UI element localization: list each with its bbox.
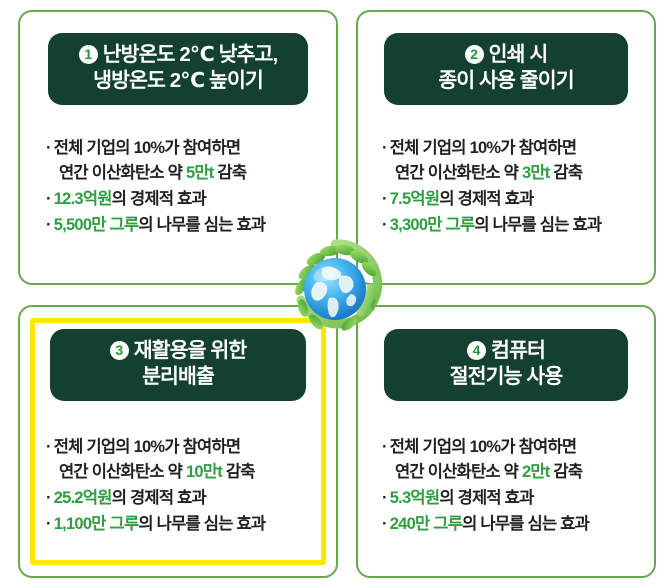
info-card-3: 3재활용을 위한 분리배출 ·전체 기업의 10%가 참여하면 연간 이산화탄소… [18,305,338,578]
card-4-number-badge: 4 [467,341,486,360]
card-2-bullet-1: ·전체 기업의 10%가 참여하면 연간 이산화탄소 약 3만t 감축 [382,136,638,186]
card-4-bullet-1-post: 감축 [550,463,583,481]
bullet-marker-icon: · [46,216,51,234]
card-4-bullet-1-line-2: 연간 이산화탄소 약 2만t 감축 [382,460,638,485]
card-4-bullets: ·전체 기업의 10%가 참여하면 연간 이산화탄소 약 2만t 감축 ·5.3… [382,435,638,538]
info-card-4: 4컴퓨터 절전기능 사용 ·전체 기업의 10%가 참여하면 연간 이산화탄소 … [356,305,656,578]
card-3-bullet-1-line-1: 전체 기업의 10%가 참여하면 [54,438,241,456]
card-3-title-line-1: 재활용을 위한 [134,339,247,362]
card-2-bullet-1-value: 3만t [522,164,550,182]
bullet-marker-icon: · [46,515,51,533]
card-2-title-line-1: 인쇄 시 [489,43,548,66]
bullet-marker-icon: · [46,139,51,157]
card-3-bullet-1-line-2: 연간 이산화탄소 약 10만t 감축 [46,460,320,485]
info-card-2: 2인쇄 시 종이 사용 줄이기 ·전체 기업의 10%가 참여하면 연간 이산화… [356,10,656,285]
card-1-bullet-3: ·5,500만 그루의 나무를 심는 효과 [46,213,320,238]
card-3-title-line-2: 분리배출 [56,364,300,390]
card-2-bullet-3-value: 3,300만 그루 [390,216,475,234]
card-1-bullet-1-value: 5만t [186,164,214,182]
card-3-bullet-2-value: 25.2억원 [54,489,112,507]
card-1-bullet-3-value: 5,500만 그루 [54,216,139,234]
card-2-header: 2인쇄 시 종이 사용 줄이기 [384,33,628,105]
card-4-bullet-1-value: 2만t [522,463,550,481]
card-1-bullet-1-post: 감축 [214,164,247,182]
card-3-bullet-1-post: 감축 [222,463,255,481]
card-4-bullet-3-post: 의 나무를 심는 효과 [462,515,589,533]
card-1-bullet-2-post: 의 경제적 효과 [112,190,206,208]
card-4-bullet-2: ·5.3억원의 경제적 효과 [382,486,638,511]
card-2-title-line-2: 종이 사용 줄이기 [390,68,622,94]
card-4-title-line-1: 컴퓨터 [491,339,545,362]
infographic-board: 1난방온도 2℃ 낮추고, 냉방온도 2℃ 높이기 ·전체 기업의 10%가 참… [0,0,669,586]
bullet-marker-icon: · [46,438,51,456]
card-4-bullet-1: ·전체 기업의 10%가 참여하면 연간 이산화탄소 약 2만t 감축 [382,435,638,485]
card-1-bullet-1-line-1: 전체 기업의 10%가 참여하면 [54,139,241,157]
info-card-1: 1난방온도 2℃ 낮추고, 냉방온도 2℃ 높이기 ·전체 기업의 10%가 참… [18,10,338,285]
card-3-bullet-1-pre: 연간 이산화탄소 약 [59,463,186,481]
card-1-bullet-2-value: 12.3억원 [54,190,112,208]
bullet-marker-icon: · [382,438,387,456]
card-2-bullet-2-value: 7.5억원 [390,190,440,208]
card-2-bullet-2-post: 의 경제적 효과 [439,190,533,208]
card-3-bullet-3-post: 의 나무를 심는 효과 [138,515,265,533]
card-3-bullet-3-value: 1,100만 그루 [54,515,139,533]
card-4-bullet-1-line-1: 전체 기업의 10%가 참여하면 [390,438,577,456]
card-1-bullet-2: ·12.3억원의 경제적 효과 [46,187,320,212]
card-3-bullets: ·전체 기업의 10%가 참여하면 연간 이산화탄소 약 10만t 감축 ·25… [46,435,320,538]
bullet-marker-icon: · [382,216,387,234]
card-4-bullet-1-pre: 연간 이산화탄소 약 [395,463,522,481]
card-1-number-badge: 1 [79,45,98,64]
bullet-marker-icon: · [382,489,387,507]
card-2-number-badge: 2 [465,45,484,64]
card-1-bullet-3-post: 의 나무를 심는 효과 [138,216,265,234]
card-2-bullet-3-post: 의 나무를 심는 효과 [474,216,601,234]
bullet-marker-icon: · [382,190,387,208]
card-1-bullet-1: ·전체 기업의 10%가 참여하면 연간 이산화탄소 약 5만t 감축 [46,136,320,186]
card-2-bullet-1-post: 감축 [550,164,583,182]
card-4-header: 4컴퓨터 절전기능 사용 [384,329,628,401]
card-3-header: 3재활용을 위한 분리배출 [50,329,306,401]
card-2-bullet-2: ·7.5억원의 경제적 효과 [382,187,638,212]
card-3-bullet-2: ·25.2억원의 경제적 효과 [46,486,320,511]
card-4-title-line-2: 절전기능 사용 [390,364,622,390]
bullet-marker-icon: · [382,139,387,157]
card-2-bullet-1-line-2: 연간 이산화탄소 약 3만t 감축 [382,161,638,186]
bullet-marker-icon: · [382,515,387,533]
card-4-bullet-2-value: 5.3억원 [390,489,440,507]
card-3-bullet-3: ·1,100만 그루의 나무를 심는 효과 [46,512,320,537]
card-1-bullet-1-line-2: 연간 이산화탄소 약 5만t 감축 [46,161,320,186]
card-3-number-badge: 3 [110,341,129,360]
card-1-title-line-2: 냉방온도 2℃ 높이기 [54,68,302,94]
card-1-bullets: ·전체 기업의 10%가 참여하면 연간 이산화탄소 약 5만t 감축 ·12.… [46,136,320,239]
card-2-bullet-1-line-1: 전체 기업의 10%가 참여하면 [390,139,577,157]
card-1-title-line-1: 난방온도 2℃ 낮추고, [103,43,278,66]
card-4-bullet-3: ·240만 그루의 나무를 심는 효과 [382,512,638,537]
card-3-bullet-1-value: 10만t [186,463,222,481]
card-4-bullet-3-value: 240만 그루 [390,515,462,533]
bullet-marker-icon: · [46,190,51,208]
card-2-bullets: ·전체 기업의 10%가 참여하면 연간 이산화탄소 약 3만t 감축 ·7.5… [382,136,638,239]
card-2-bullet-1-pre: 연간 이산화탄소 약 [395,164,522,182]
card-4-bullet-2-post: 의 경제적 효과 [439,489,533,507]
card-1-bullet-1-pre: 연간 이산화탄소 약 [59,164,186,182]
card-3-bullet-2-post: 의 경제적 효과 [112,489,206,507]
card-3-bullet-1: ·전체 기업의 10%가 참여하면 연간 이산화탄소 약 10만t 감축 [46,435,320,485]
card-2-bullet-3: ·3,300만 그루의 나무를 심는 효과 [382,213,638,238]
card-1-header: 1난방온도 2℃ 낮추고, 냉방온도 2℃ 높이기 [48,33,308,105]
bullet-marker-icon: · [46,489,51,507]
